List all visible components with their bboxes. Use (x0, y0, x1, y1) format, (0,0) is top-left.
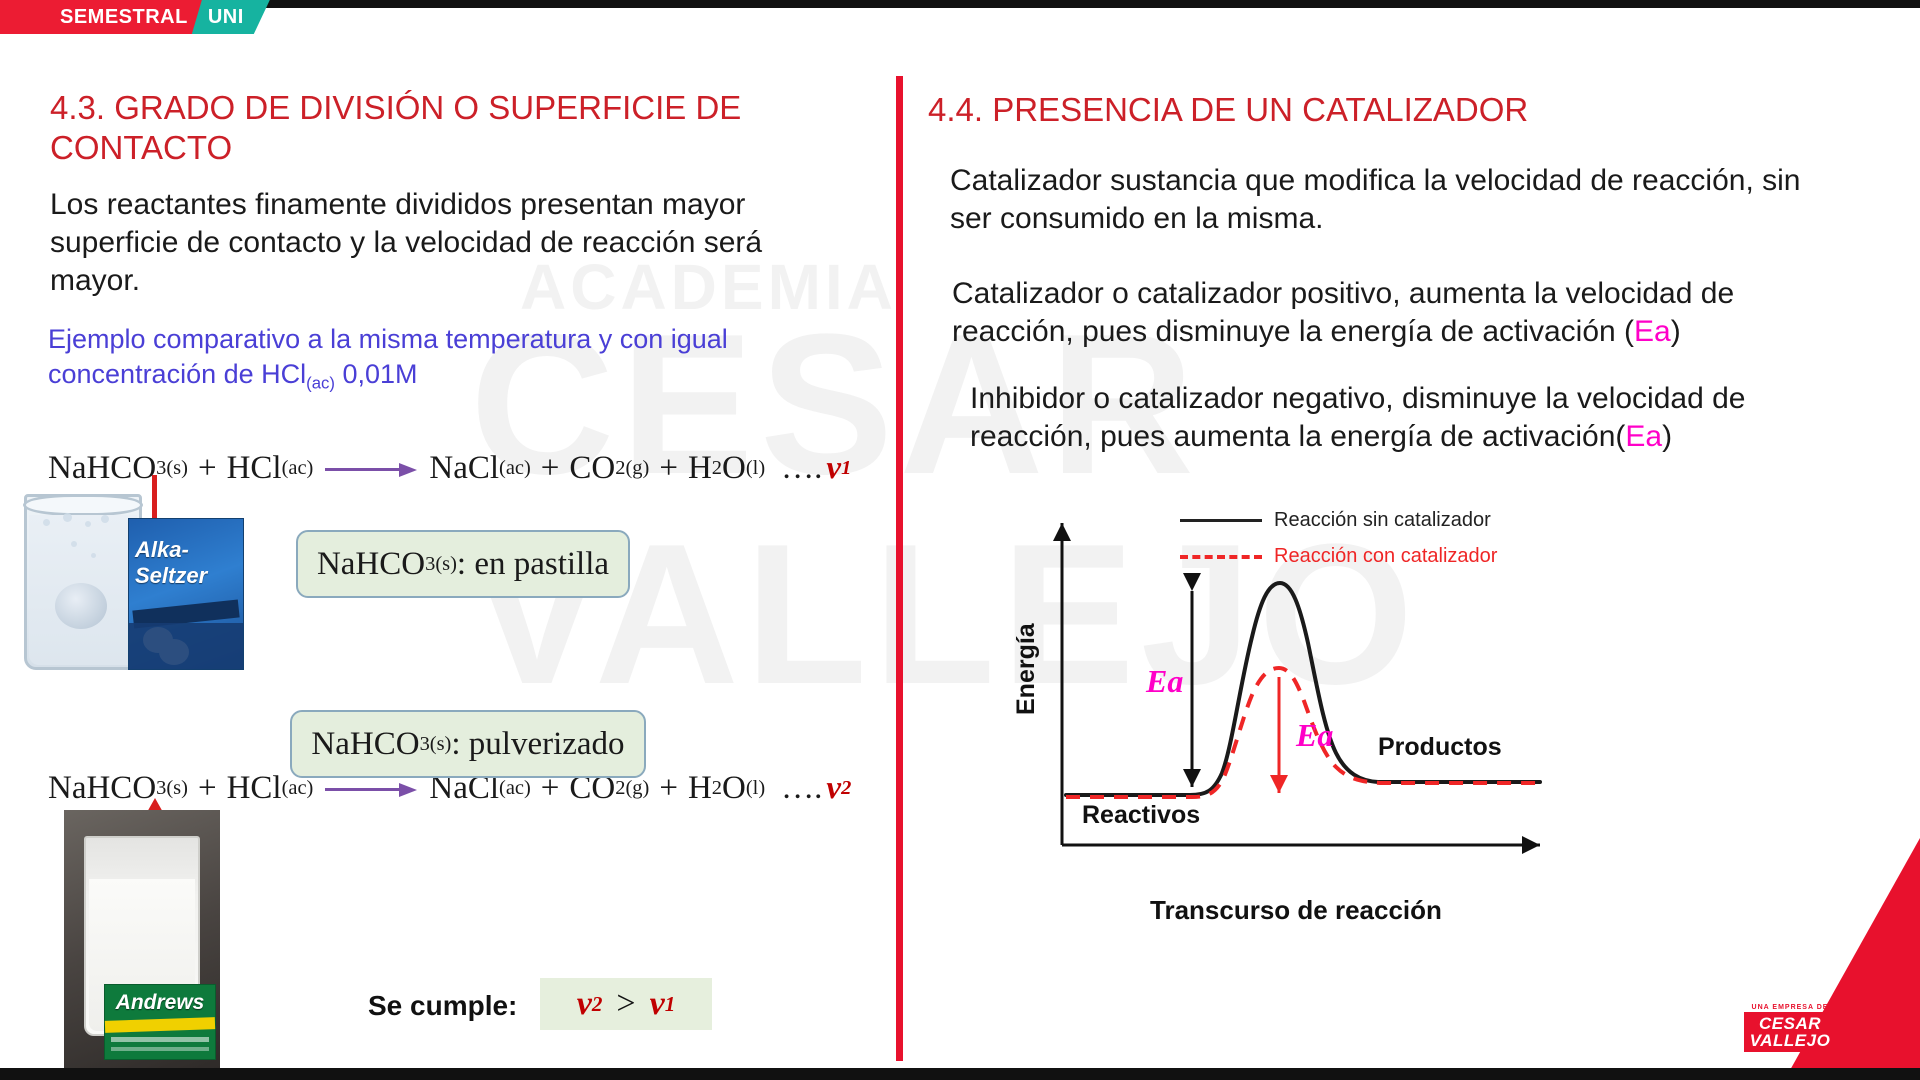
eq2-plus-3: + (659, 770, 678, 807)
reaction-arrow-icon (325, 782, 417, 796)
eq2-product2-sub: 2(g) (615, 777, 649, 800)
eq2-product3-o: O (722, 770, 746, 807)
eq2-velocity-sub: 2 (841, 777, 851, 800)
eq1-product3-sub: (l) (746, 457, 765, 480)
ea-highlight-2: Ea (1625, 420, 1662, 453)
eq1-product2-sub: 2(g) (615, 457, 649, 480)
eq1-product3-h-sub: 2 (712, 457, 722, 480)
bubble-icon (101, 515, 109, 523)
eq2-product3-h: H (688, 770, 712, 807)
logo-line2: VALLEJO (1749, 1032, 1831, 1049)
andrews-text-line (111, 1047, 209, 1051)
photo-powder-glass: Andrews (64, 810, 220, 1068)
logo-line1: CESAR (1749, 1015, 1831, 1032)
left-paragraph: Los reactantes finamente divididos prese… (50, 186, 820, 300)
bubble-icon (63, 513, 72, 522)
eq2-dots: …. (781, 770, 822, 807)
banner-uni-label: UNI (208, 6, 244, 29)
eq2-reactant1-sub: 3(s) (156, 777, 188, 800)
eq2-product1-sub: (ac) (499, 777, 531, 800)
bubble-icon (43, 519, 50, 526)
right-paragraph-2-text: Catalizador o catalizador positivo, aume… (952, 277, 1734, 348)
alka-box-bottom (129, 623, 243, 669)
hcl-state-sub: (ac) (306, 373, 335, 392)
conclusion-v-left: v (577, 985, 592, 1023)
eq2-velocity: v (826, 770, 841, 807)
left-column: 4.3. GRADO DE DIVISIÓN O SUPERFICIE DE C… (0, 60, 890, 1070)
label-box-pulverizado: NaHCO3(s): pulverizado (290, 710, 646, 778)
label-box-pastilla-formula: NaHCO (317, 546, 425, 583)
label-box-pastilla-sub: 3(s) (425, 553, 457, 576)
banner-semestral-label: SEMESTRAL (60, 6, 188, 29)
andrews-text-line (111, 1037, 209, 1042)
left-heading: 4.3. GRADO DE DIVISIÓN O SUPERFICIE DE C… (50, 88, 750, 169)
eq1-product1-sub: (ac) (499, 457, 531, 480)
eq1-velocity: v (826, 450, 841, 487)
eq1-product3-h: H (688, 450, 712, 487)
label-box-pulverizado-sub: 3(s) (420, 733, 452, 756)
andrews-sachet: Andrews (104, 984, 216, 1060)
logo-top-text: UNA EMPRESA DE (1744, 1004, 1836, 1011)
andrews-yellow-band (105, 1017, 215, 1033)
alka-brand-line2: Seltzer (135, 563, 207, 589)
ea-highlight-1: Ea (1634, 315, 1671, 348)
conclusion-prefix: Se cumple: (368, 990, 517, 1022)
bubble-icon (71, 541, 77, 547)
eq1-dots: …. (781, 450, 822, 487)
eq1-product2: CO (569, 450, 615, 487)
eq1-plus-2: + (541, 450, 560, 487)
conclusion-box: v2 > v1 (540, 978, 712, 1030)
right-paragraph-2: Catalizador o catalizador positivo, aume… (952, 275, 1812, 351)
top-black-bar (0, 0, 1920, 8)
example-note-line1: Ejemplo comparativo a la misma temperatu… (48, 324, 728, 354)
eq1-plus-3: + (659, 450, 678, 487)
conclusion-v-left-sub: 2 (592, 992, 603, 1017)
eq1-velocity-sub: 1 (841, 457, 851, 480)
label-box-pastilla: NaHCO3(s): en pastilla (296, 530, 630, 598)
example-note: Ejemplo comparativo a la misma temperatu… (48, 322, 838, 394)
example-note-line2-post: 0,01M (335, 359, 418, 389)
banner-uni: UNI (192, 0, 270, 34)
andrews-brand: Andrews (105, 991, 215, 1015)
banner-semestral: SEMESTRAL (0, 0, 202, 34)
label-box-pastilla-text: : en pastilla (457, 546, 609, 583)
right-heading: 4.4. PRESENCIA DE UN CATALIZADOR (928, 90, 1828, 130)
right-paragraph-1: Catalizador sustancia que modifica la ve… (950, 162, 1840, 238)
eq2-product3-sub: (l) (746, 777, 765, 800)
right-paragraph-3: Inhibidor o catalizador negativo, dismin… (970, 380, 1820, 456)
eq2-plus-1: + (198, 770, 217, 807)
eq1-product1: NaCl (429, 450, 499, 487)
photo-tablet-beaker: Alka- Seltzer (18, 432, 298, 672)
column-divider (896, 76, 903, 1061)
logo-name: CESAR VALLEJO (1744, 1012, 1836, 1052)
eq2-reactant2-sub: (ac) (282, 777, 314, 800)
right-paragraph-2-close: ) (1671, 315, 1681, 348)
example-note-line2-pre: concentración de HCl (48, 359, 306, 389)
label-box-pulverizado-formula: NaHCO (311, 726, 419, 763)
right-paragraph-3-close: ) (1662, 420, 1672, 453)
bubble-icon (91, 553, 96, 558)
slide-root: SEMESTRAL UNI ACADEMIA CESAR VALLEJO 4.3… (0, 0, 1920, 1080)
conclusion-operator: > (616, 985, 635, 1023)
label-box-pulverizado-text: : pulverizado (451, 726, 624, 763)
conclusion-v-right: v (650, 985, 665, 1023)
alka-seltzer-box: Alka- Seltzer (128, 518, 244, 670)
eq2-product3-h-sub: 2 (712, 777, 722, 800)
eq2-reactant2: HCl (227, 770, 282, 807)
beaker-rim (23, 494, 143, 516)
alka-brand-line1: Alka- (135, 537, 189, 563)
cesar-vallejo-logo: UNA EMPRESA DE CESAR VALLEJO (1744, 1004, 1836, 1052)
reaction-arrow-icon (325, 462, 417, 476)
right-column: 4.4. PRESENCIA DE UN CATALIZADOR Cataliz… (910, 60, 1920, 1070)
eq2-reactant1: NaHCO (48, 770, 156, 807)
beaker-icon (24, 494, 142, 670)
bubble-icon (85, 521, 91, 527)
effervescent-tablet-icon (55, 583, 107, 629)
bottom-black-bar (0, 1068, 1920, 1080)
conclusion-v-right-sub: 1 (665, 992, 676, 1017)
course-banner: SEMESTRAL UNI (0, 0, 270, 34)
eq1-product3-o: O (722, 450, 746, 487)
